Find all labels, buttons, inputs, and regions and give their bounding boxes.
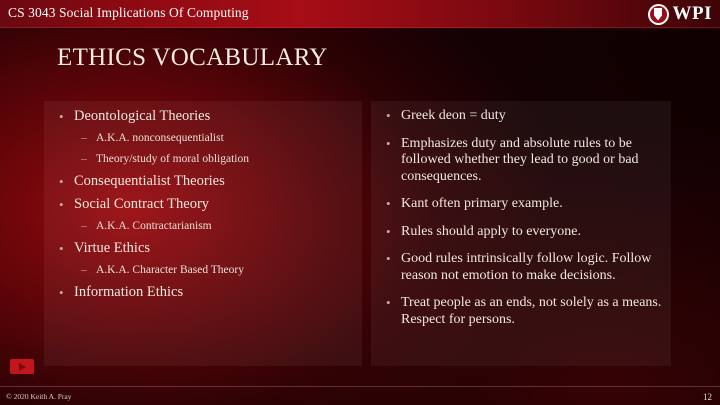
list-item: Good rules intrinsically follow logic. F… (383, 251, 663, 284)
list-item: Rules should apply to everyone. (383, 224, 663, 241)
header-bar: CS 3043 Social Implications Of Computing… (0, 0, 720, 29)
list-item: Treat people as an ends, not solely as a… (383, 295, 663, 328)
page-title: ETHICS VOCABULARY (57, 44, 328, 72)
list-item: Kant often primary example. (383, 196, 663, 213)
list-item: Deontological Theories (56, 108, 354, 125)
wpi-seal-icon (648, 4, 669, 25)
wpi-logo: WPI (648, 2, 713, 26)
list-item: A.K.A. nonconsequentialist (56, 131, 354, 146)
list-item: A.K.A. Character Based Theory (56, 263, 354, 278)
footer-copyright: © 2020 Keith A. Pray (6, 392, 72, 401)
footer-divider (0, 386, 720, 387)
list-item: Consequentialist Theories (56, 173, 354, 190)
left-content-panel: Deontological Theories A.K.A. nonconsequ… (44, 101, 362, 366)
list-item: Emphasizes duty and absolute rules to be… (383, 136, 663, 186)
list-item: Social Contract Theory (56, 196, 354, 213)
wpi-logo-text: WPI (673, 2, 713, 26)
left-bullet-list: Deontological Theories A.K.A. nonconsequ… (44, 101, 362, 307)
right-content-panel: Greek deon = duty Emphasizes duty and ab… (371, 101, 671, 366)
page-number: 12 (703, 392, 712, 402)
list-item: Greek deon = duty (383, 108, 663, 125)
video-play-icon[interactable] (10, 359, 34, 374)
right-bullet-list: Greek deon = duty Emphasizes duty and ab… (371, 101, 671, 339)
list-item: Virtue Ethics (56, 240, 354, 257)
slide: CS 3043 Social Implications Of Computing… (0, 0, 720, 405)
course-title: CS 3043 Social Implications Of Computing (8, 5, 249, 21)
list-item: Information Ethics (56, 284, 354, 301)
list-item: Theory/study of moral obligation (56, 152, 354, 167)
list-item: A.K.A. Contractarianism (56, 219, 354, 234)
